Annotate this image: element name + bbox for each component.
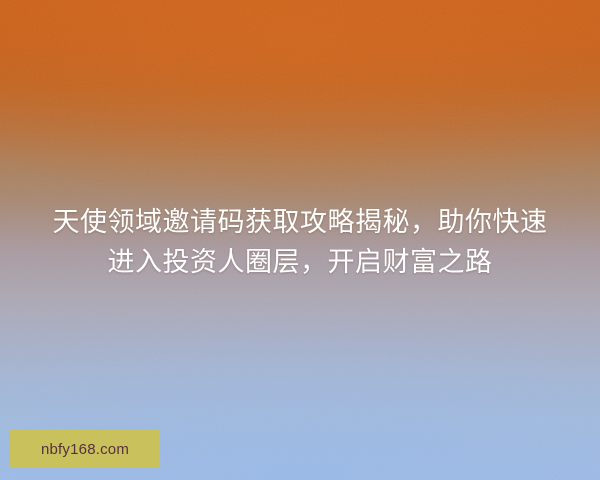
banner-image: 天使领域邀请码获取攻略揭秘，助你快速 进入投资人圈层，开启财富之路 nbfy16… — [0, 0, 600, 480]
background-gradient — [0, 0, 600, 480]
watermark-badge: nbfy168.com — [10, 430, 160, 468]
watermark-label: nbfy168.com — [41, 442, 129, 457]
